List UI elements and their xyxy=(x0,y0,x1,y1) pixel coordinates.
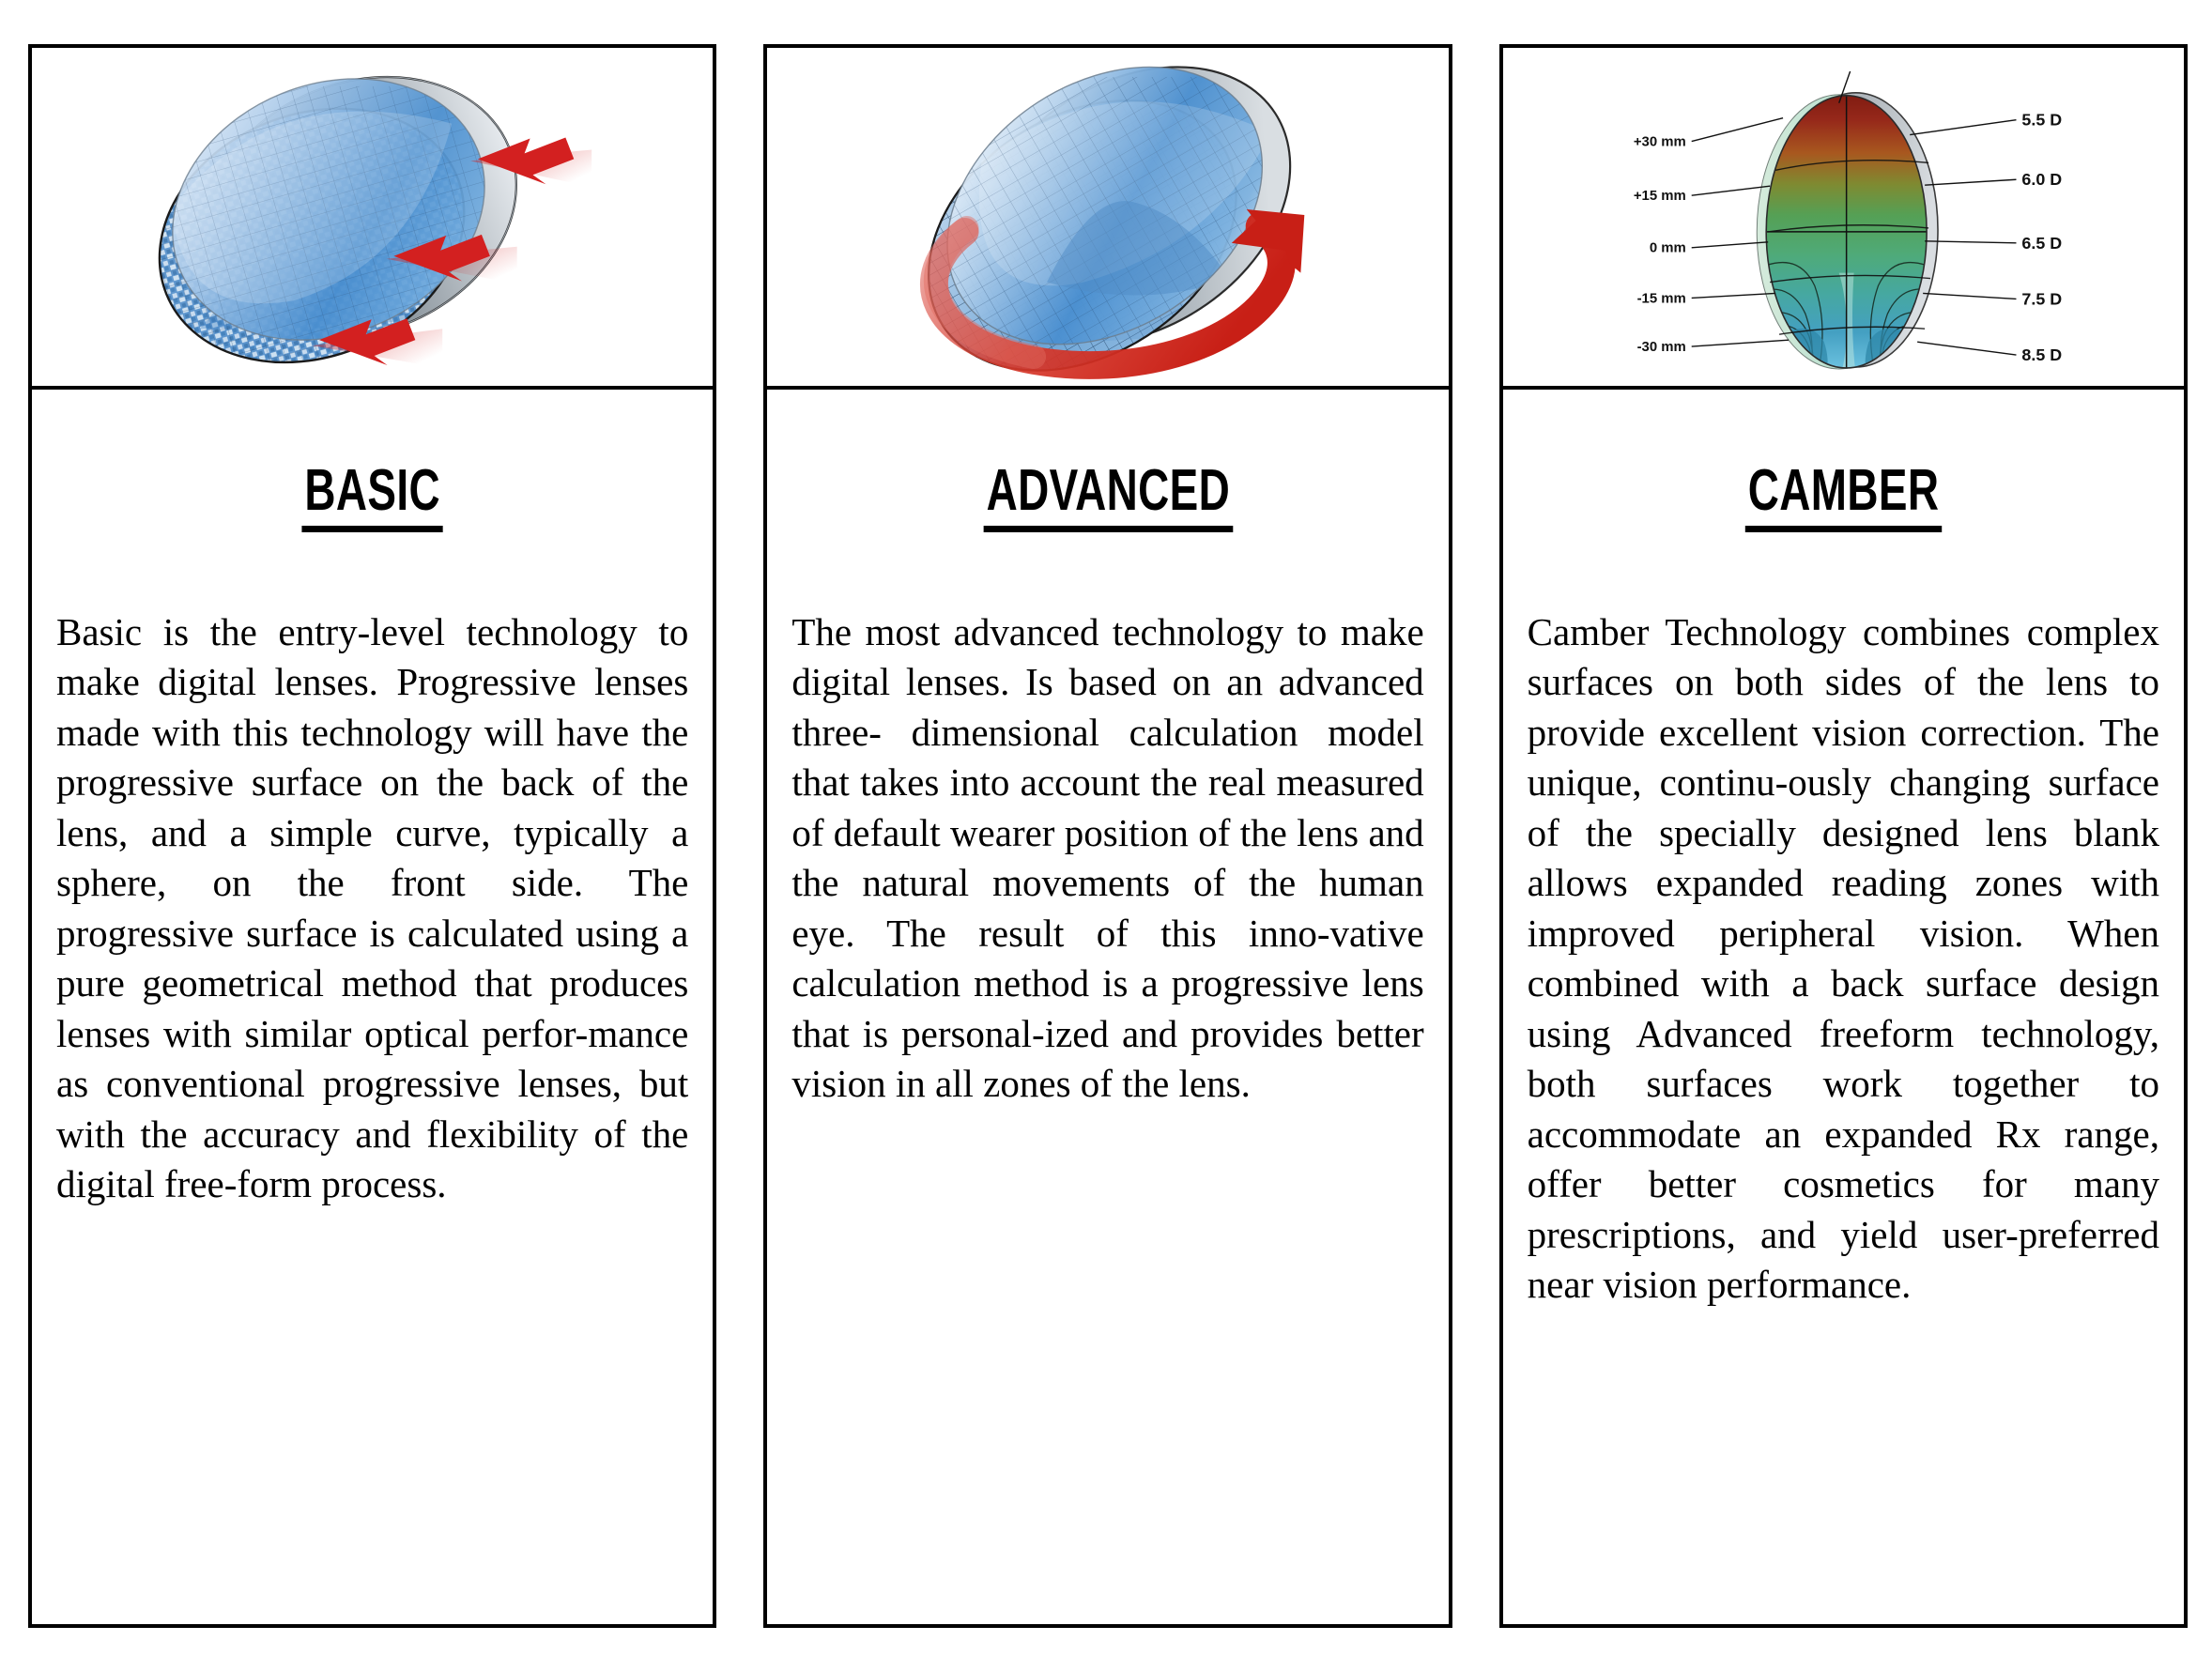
left-label-minus15: -15 mm xyxy=(1636,291,1775,306)
panel-camber: +30 mm +15 mm 0 mm -15 mm xyxy=(1499,44,2188,1628)
advanced-title-wrap: ADVANCED xyxy=(767,390,1448,587)
advanced-body-text: The most advanced technology to make dig… xyxy=(791,607,1423,1110)
right-label-75d: 7.5 D xyxy=(1923,289,2062,308)
basic-lens-figure xyxy=(32,48,713,390)
panel-basic: BASIC Basic is the entry-level technolog… xyxy=(28,44,716,1628)
right-label-85d: 8.5 D xyxy=(1917,342,2062,364)
basic-body: Basic is the entry-level technology to m… xyxy=(32,587,713,1624)
left-label-0-text: 0 mm xyxy=(1649,241,1685,256)
left-label-plus30-text: +30 mm xyxy=(1634,134,1686,149)
comparison-sheet: BASIC Basic is the entry-level technolog… xyxy=(0,0,2212,1672)
left-label-0: 0 mm xyxy=(1649,241,1767,256)
left-label-plus15: +15 mm xyxy=(1634,186,1770,204)
advanced-body: The most advanced technology to make dig… xyxy=(767,587,1448,1624)
basic-body-text: Basic is the entry-level technology to m… xyxy=(56,607,688,1210)
left-label-plus30: +30 mm xyxy=(1634,118,1783,150)
left-label-minus30: -30 mm xyxy=(1636,340,1788,355)
basic-title-wrap: BASIC xyxy=(32,390,713,587)
left-label-minus30-text: -30 mm xyxy=(1636,340,1685,355)
camber-power-map-figure: +30 mm +15 mm 0 mm -15 mm xyxy=(1503,48,2184,390)
advanced-lens-figure xyxy=(767,48,1448,390)
panel-title-basic: BASIC xyxy=(301,462,443,532)
camber-title-wrap: CAMBER xyxy=(1503,390,2184,587)
left-label-minus15-text: -15 mm xyxy=(1636,291,1685,306)
camber-body: Camber Technology combines complex surfa… xyxy=(1503,587,2184,1624)
left-label-plus15-text: +15 mm xyxy=(1634,189,1686,204)
right-label-55d: 5.5 D xyxy=(1910,111,2062,135)
right-label-65d: 6.5 D xyxy=(1925,234,2062,253)
panel-title-advanced: ADVANCED xyxy=(983,462,1232,532)
basic-lens-illustration xyxy=(32,48,713,386)
camber-body-text: Camber Technology combines complex surfa… xyxy=(1528,607,2159,1311)
right-label-85d-text: 8.5 D xyxy=(2021,345,2062,364)
camber-power-map-illustration: +30 mm +15 mm 0 mm -15 mm xyxy=(1503,48,2184,386)
panel-title-camber: CAMBER xyxy=(1745,462,1943,532)
panel-advanced: ADVANCED The most advanced technology to… xyxy=(763,44,1452,1628)
right-label-75d-text: 7.5 D xyxy=(2021,289,2062,308)
right-label-60d: 6.0 D xyxy=(1925,170,2062,189)
right-label-55d-text: 5.5 D xyxy=(2021,111,2062,130)
advanced-lens-illustration xyxy=(767,48,1448,386)
right-label-65d-text: 6.5 D xyxy=(2021,234,2062,253)
right-label-60d-text: 6.0 D xyxy=(2021,170,2062,189)
